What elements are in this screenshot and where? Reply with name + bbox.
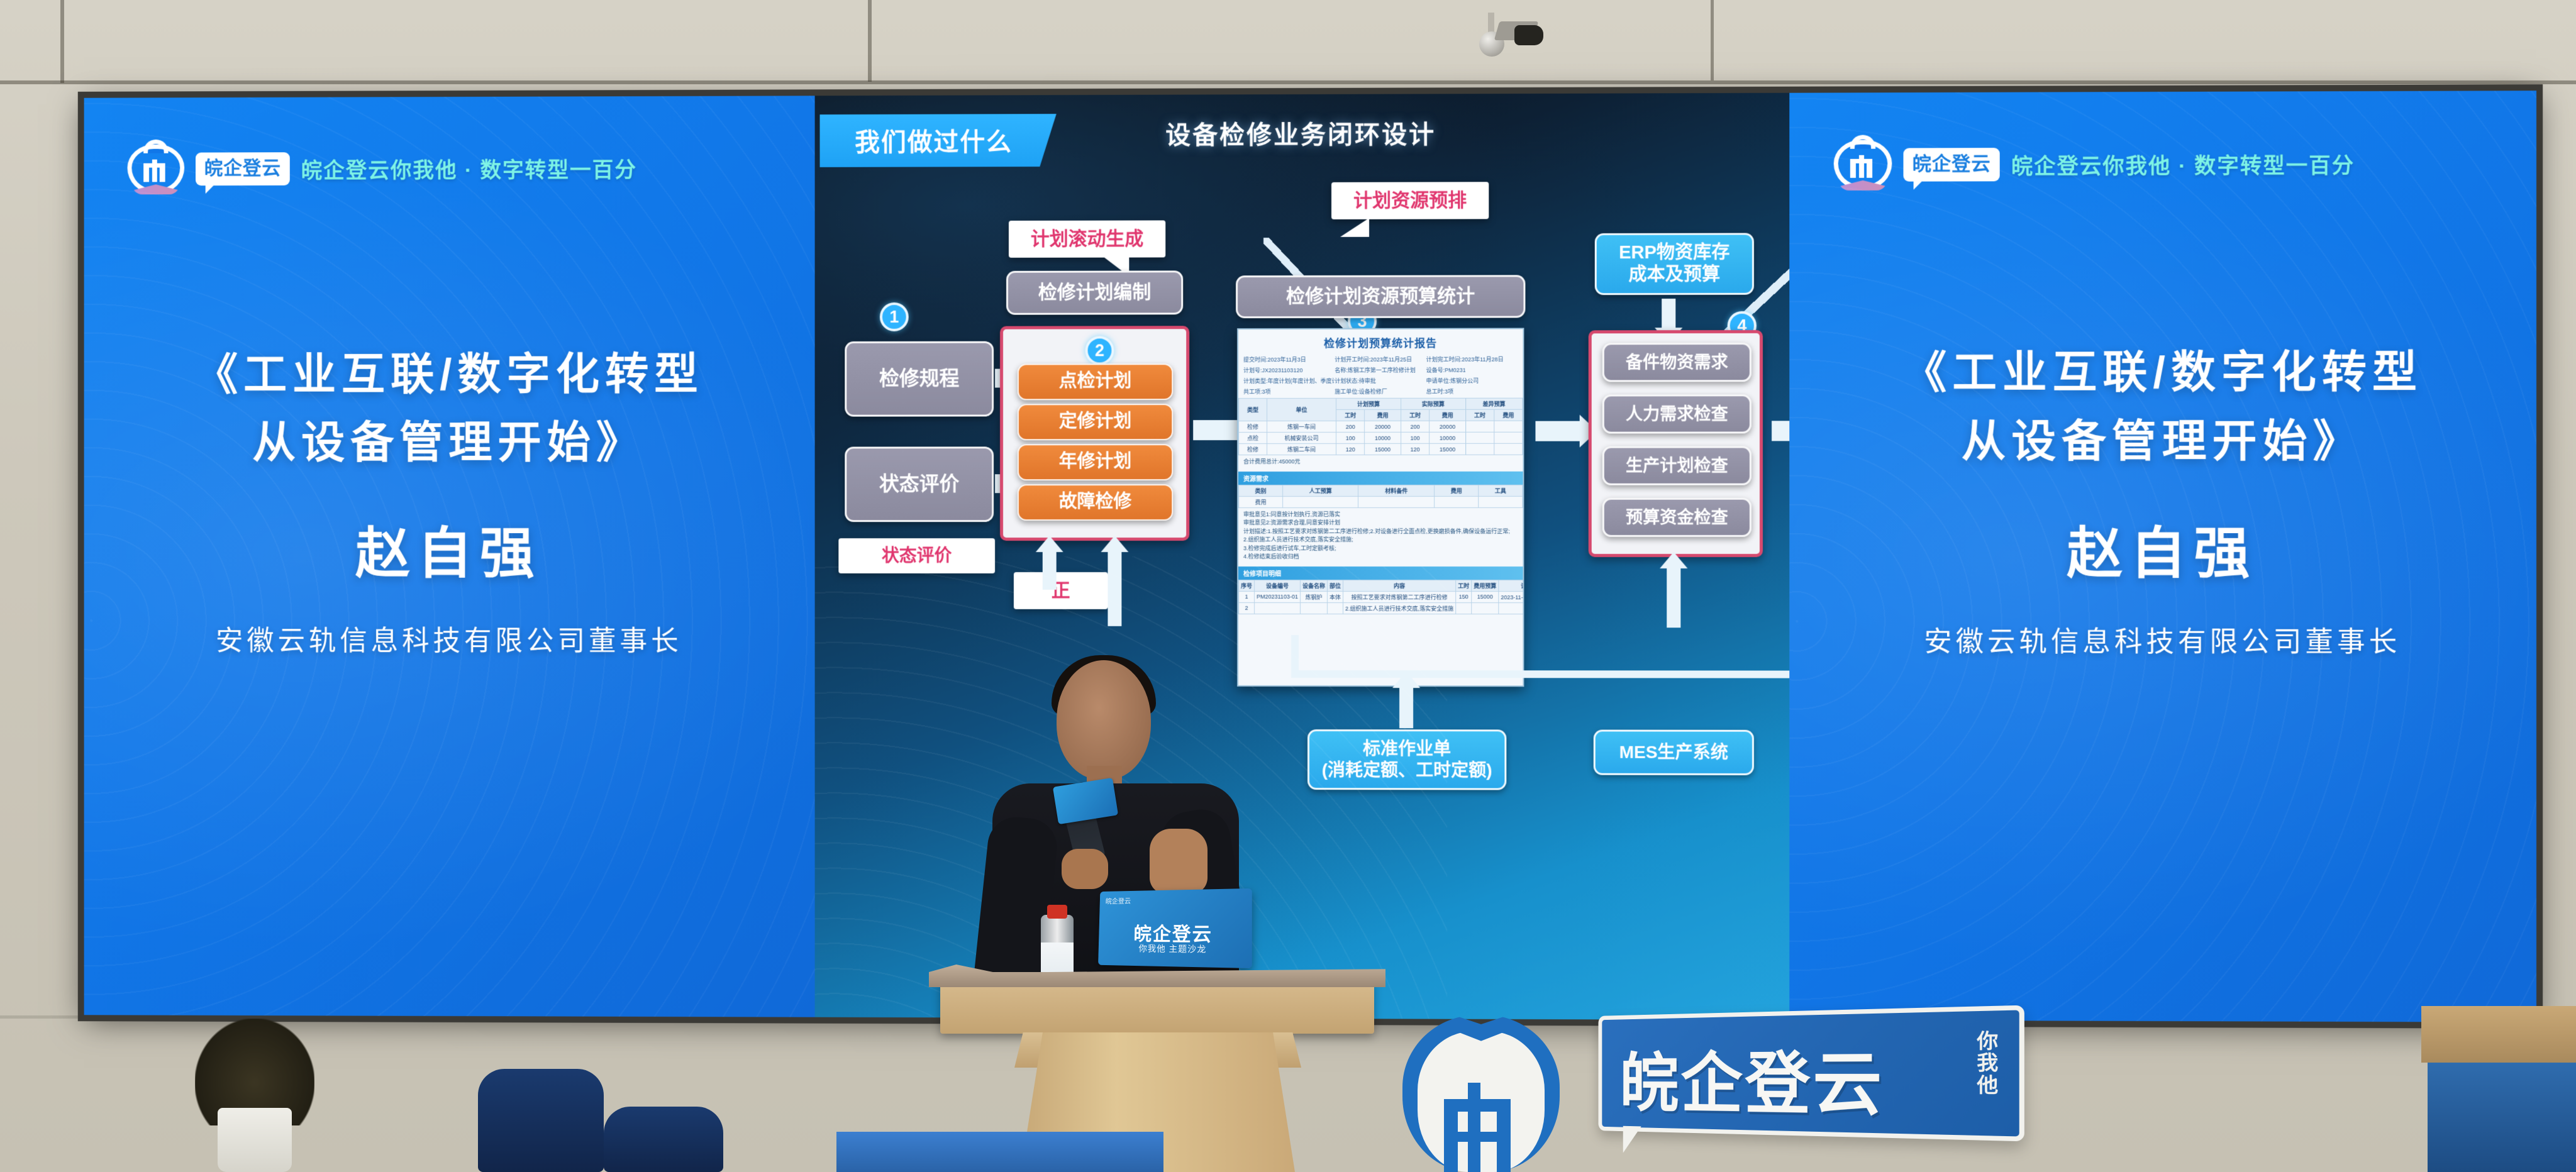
report-cell: 按照工艺要求对炼钢第二工序进行检修 [1343, 591, 1455, 602]
speaker-name: 赵自强 [84, 509, 815, 589]
brand-bubble-text: 皖企登云 [1913, 153, 1991, 174]
report-cell [1255, 602, 1301, 614]
report-note: 2.组织施工人员进行技术交底,落实安全措施; [1243, 536, 1518, 545]
report-th: 单位 [1267, 398, 1336, 421]
report-cell: 2 [1239, 602, 1255, 614]
report-th-group: 差异预算 [1465, 398, 1522, 409]
report-row: 点检机械安装公司1001000010010000 [1239, 432, 1523, 443]
cloud-house-logo-icon [1834, 140, 1892, 189]
report-cell: 150 [1456, 591, 1472, 602]
node-budget-stats: 检修计划资源预算统计 [1236, 275, 1525, 318]
report-meta-item: 设备号:PM0231 [1426, 365, 1517, 375]
report-row: 1PM20231103-01炼钢炉本体按照工艺要求对炼钢第二工序进行检修1501… [1239, 591, 1524, 602]
report-cell [1472, 602, 1499, 614]
report-cell [1499, 602, 1524, 614]
report-group-header-row: 类型单位计划预算实际预算差异预算 [1239, 398, 1523, 409]
report-cell [1465, 432, 1494, 443]
report-th: 工时 [1465, 409, 1494, 421]
report-cell: 2023-11-25至2023-11-28 [1499, 591, 1524, 602]
front-table-right-top [2421, 1006, 2576, 1063]
brand-bubble-left: 皖企登云 [196, 152, 290, 185]
report-meta-item: 施工单位:设备检修厂 [1335, 386, 1426, 397]
report-cell: 200 [1336, 421, 1365, 432]
report-title: 检修计划预算统计报告 [1238, 329, 1523, 353]
callout-plan-rolling: 计划滚动生成 [1009, 220, 1165, 257]
report-cell: 检修 [1239, 421, 1267, 433]
report-meta-item: 总工时:3项 [1426, 386, 1517, 397]
brand-lockup-right: 皖企登云 皖企登云你我他 · 数字转型一百分 [1834, 139, 2355, 189]
node-plan-item-1: 定修计划 [1018, 404, 1173, 440]
chair [478, 1069, 604, 1172]
step-number-2: 2 [1085, 336, 1114, 365]
arrow-erp-to-checks [1662, 299, 1675, 329]
wall-tile-line [1711, 0, 1714, 80]
report-meta-item: 提交时间:2023年11月3日 [1243, 354, 1335, 365]
line-feedback-bus [1291, 670, 1789, 678]
presentation-slide: 我们做过什么 设备检修业务闭环设计 1 检修规程 状态评价 状态评价 计划滚动生… [815, 93, 1790, 1020]
report-meta-item: 计划完工时间:2023年11月28日 [1426, 354, 1517, 365]
panel-title-line2: 从设备管理开始》 [1789, 407, 2536, 476]
report-meta-item: 计划号:JX20231103120 [1243, 365, 1335, 375]
node-plan-authoring: 检修计划编制 [1006, 270, 1183, 314]
panel-title-line2: 从设备管理开始》 [84, 408, 815, 477]
wall-tile-line [60, 0, 64, 83]
speaker-org: 安徽云轨信息科技有限公司董事长 [84, 618, 815, 658]
report-cell: 120 [1336, 443, 1365, 455]
report-cell [1435, 496, 1479, 507]
cloud-house-logo-icon [128, 145, 185, 194]
report-th-group: 计划预算 [1336, 398, 1401, 409]
report-cell: 2.组织施工人员进行技术交底,落实安全措施 [1343, 602, 1455, 614]
report-meta-item: 计划状态:待审批 [1335, 375, 1426, 386]
line-feedback-up [1291, 635, 1299, 673]
report-cell: 120 [1401, 443, 1429, 455]
panel-title-line1: 《工业互联/数字化转型 [1789, 338, 2536, 407]
report-meta-item: 计划类型:年度计划(年度计划、季度计划) [1243, 375, 1335, 386]
speaker-org: 安徽云轨信息科技有限公司董事长 [1789, 619, 2536, 660]
security-camera-icon [1465, 13, 1541, 63]
front-table-right [2428, 1063, 2576, 1172]
report-cell [1494, 432, 1523, 443]
report-cell [1456, 602, 1472, 614]
report-note: 审批意见1:同意按计划执行,资源已落实 [1243, 510, 1518, 519]
report-cell: 10000 [1365, 432, 1401, 443]
report-th: 费用 [1365, 409, 1401, 421]
report-meta-item: 计划开工时间:2023年11月25日 [1335, 354, 1426, 365]
report-th: 工时 [1336, 409, 1365, 421]
report-th-group: 实际预算 [1401, 398, 1465, 409]
report-th: 内容 [1343, 580, 1455, 591]
report-cell: 100 [1401, 432, 1429, 443]
report-cell: 炼钢二车间 [1267, 443, 1336, 455]
report-cell [1479, 496, 1523, 507]
chair [604, 1107, 723, 1172]
cloud-house-logo-icon [1402, 1015, 1560, 1172]
report-section2-row: 费用 [1239, 496, 1523, 507]
report-th: 工时 [1401, 409, 1429, 421]
node-mes-system: MES生产系统 [1594, 730, 1754, 775]
report-cell [1465, 421, 1494, 432]
report-cell: 炼钢一车间 [1267, 421, 1336, 432]
report-cell: 费用 [1239, 496, 1283, 507]
stage-sign-plate: 皖企登云 你我他 [1599, 1005, 2024, 1142]
report-th: 计划时间 [1499, 580, 1524, 591]
report-section3-body: 1PM20231103-01炼钢炉本体按照工艺要求对炼钢第二工序进行检修1501… [1239, 591, 1524, 614]
report-cell: 20000 [1430, 421, 1466, 432]
placard-sub-text: 你我他 主题沙龙 [1099, 942, 1252, 956]
step-number-1: 1 [880, 302, 909, 331]
callout-condition-eval-note: 状态评价 [838, 538, 995, 573]
arrow-checks-to-risk [1772, 421, 1789, 441]
stage-logo-sign: 皖企登云 你我他 [1402, 1011, 2057, 1172]
brand-bubble-right: 皖企登云 [1903, 148, 1999, 182]
report-cell: 本体 [1327, 591, 1343, 602]
report-cell: 20000 [1365, 421, 1401, 432]
report-th: 工具 [1479, 485, 1523, 496]
report-meta-item: 共工项:3项 [1243, 386, 1335, 397]
report-th: 序号 [1239, 580, 1255, 591]
arrow-mes-to-checks [1667, 567, 1680, 627]
node-check-item-0: 备件物资需求 [1602, 343, 1752, 382]
report-note: 审批意见2:资源需求合理,同意安排计划 [1243, 519, 1518, 528]
wall-tile-line [868, 0, 872, 82]
report-th: 费用 [1435, 485, 1479, 496]
report-cell: 15000 [1472, 591, 1499, 602]
report-cell: 检修 [1239, 444, 1267, 455]
report-cell [1327, 602, 1343, 614]
report-th: 类别 [1239, 485, 1283, 496]
wall-tile-line [0, 80, 2576, 84]
node-condition-eval: 状态评价 [845, 446, 994, 522]
brand-slogan-right: 皖企登云你我他 · 数字转型一百分 [2011, 148, 2355, 180]
report-section2-notes: 审批意见1:同意按计划执行,资源已落实审批意见2:资源需求合理,同意安排计划计划… [1238, 507, 1523, 563]
stage-sign-side-text: 你我他 [1970, 1031, 2004, 1098]
node-standard-work-order: 标准作业单 (消耗定额、工时定额) [1307, 729, 1506, 790]
report-section3-header-row: 序号设备编号设备名称部位内容工时费用预算计划时间施工单位备注 [1239, 580, 1524, 591]
brand-slogan-left: 皖企登云你我他 · 数字转型一百分 [301, 152, 637, 184]
slide-title: 设备检修业务闭环设计 [815, 113, 1790, 152]
arrow-plan-to-report [1193, 420, 1242, 440]
led-video-wall: 皖企登云 皖企登云你我他 · 数字转型一百分 《工业互联/数字化转型 从设备管理… [84, 91, 2536, 1022]
right-display-panel: 皖企登云 皖企登云你我他 · 数字转型一百分 《工业互联/数字化转型 从设备管理… [1789, 91, 2536, 1022]
node-check-item-3: 预算资金检查 [1602, 498, 1752, 537]
report-row: 检修炼钢一车间2002000020020000 [1239, 421, 1523, 432]
report-screenshot: 检修计划预算统计报告 提交时间:2023年11月3日计划开工时间:2023年11… [1237, 328, 1524, 687]
report-meta-item: 申请单位:炼钢分公司 [1426, 375, 1517, 386]
arrow-report-to-checks [1535, 421, 1580, 441]
front-table-left [836, 1132, 1163, 1172]
report-row: 检修炼钢二车间1201500012015000 [1239, 443, 1523, 455]
report-note: 3.检修完成后进行试车,工时定额考核; [1243, 544, 1518, 553]
report-cell [1300, 602, 1327, 614]
arrow-sow-up [1399, 687, 1413, 728]
report-footer-note: 合计费用总计:45000元 [1238, 455, 1523, 469]
report-table-section2: 类别人工预算材料备件费用工具 费用 [1238, 484, 1523, 507]
report-cell: 1 [1239, 591, 1255, 602]
report-th: 材料备件 [1358, 485, 1435, 496]
report-cell: 200 [1401, 421, 1429, 432]
report-cell [1283, 496, 1358, 507]
left-display-panel: 皖企登云 皖企登云你我他 · 数字转型一百分 《工业互联/数字化转型 从设备管理… [84, 96, 815, 1017]
node-inspection-rules: 检修规程 [845, 341, 994, 417]
node-plan-item-3: 故障检修 [1018, 484, 1173, 521]
report-th: 费用 [1494, 409, 1523, 421]
report-section3-title: 检修项目明细 [1238, 566, 1523, 579]
report-th: 费用预算 [1472, 580, 1499, 591]
report-section2-header-row: 类别人工预算材料备件费用工具 [1239, 485, 1523, 496]
brand-bubble-text: 皖企登云 [204, 158, 281, 179]
brand-lockup-left: 皖企登云 皖企登云你我他 · 数字转型一百分 [128, 143, 637, 194]
node-check-item-1: 人力需求检查 [1602, 394, 1752, 433]
left-panel-content: 《工业互联/数字化转型 从设备管理开始》 赵自强 安徽云轨信息科技有限公司董事长 [84, 340, 815, 658]
report-cell: 机械安装公司 [1267, 432, 1336, 443]
report-section2-title: 资源需求 [1238, 471, 1523, 484]
report-cell: 15000 [1430, 443, 1466, 455]
report-th: 人工预算 [1283, 485, 1358, 496]
report-table-body: 检修炼钢一车间2002000020020000点检机械安装公司100100001… [1239, 421, 1523, 455]
speaker-name: 赵自强 [1789, 508, 2536, 589]
report-th: 费用 [1430, 409, 1466, 421]
report-th: 设备名称 [1300, 580, 1327, 591]
node-plan-item-2: 年修计划 [1018, 444, 1173, 480]
node-plan-item-0: 点检计划 [1018, 363, 1173, 400]
report-cell [1358, 496, 1435, 507]
report-table-section3: 序号设备编号设备名称部位内容工时费用预算计划时间施工单位备注 1PM202311… [1238, 579, 1524, 614]
report-cell: PM20231103-01 [1255, 591, 1301, 602]
report-row: 22.组织施工人员进行技术交底,落实安全措施 [1239, 602, 1524, 614]
report-cell: 点检 [1239, 433, 1267, 444]
report-cell [1494, 443, 1523, 455]
report-cell [1494, 421, 1523, 432]
report-th: 类型 [1239, 399, 1267, 421]
report-table-main: 类型单位计划预算实际预算差异预算 工时费用工时费用工时费用 检修炼钢一车间200… [1238, 398, 1523, 455]
callout-plan-correct-note: 正 [1014, 572, 1108, 609]
placard-logo-text: 皖企登云 [1106, 896, 1131, 906]
callout-resource-presched: 计划资源预排 [1331, 182, 1489, 219]
report-cell: 15000 [1365, 443, 1401, 455]
node-check-item-2: 生产计划检查 [1602, 446, 1752, 485]
stage-sign-main-text: 皖企登云 [1620, 1027, 1885, 1129]
report-note: 4.检修结束后验收归档 [1243, 553, 1518, 561]
potted-plant [195, 1019, 314, 1172]
arrow-feedback-plan-a [1043, 551, 1057, 590]
report-th: 部位 [1327, 580, 1343, 591]
report-th: 工时 [1456, 580, 1472, 591]
panel-title-line1: 《工业互联/数字化转型 [84, 340, 815, 409]
report-cell [1465, 443, 1494, 455]
report-cell: 炼钢炉 [1300, 591, 1327, 602]
report-meta: 提交时间:2023年11月3日计划开工时间:2023年11月25日计划完工时间:… [1238, 353, 1523, 399]
podium-placard: 皖企登云 皖企登云 你我他 主题沙龙 [1098, 888, 1252, 968]
report-cell: 100 [1336, 432, 1365, 443]
report-note: 计划描述:1.按照工艺要求对炼钢第二工序进行检修;2.对设备进行全面点检,更换磨… [1243, 527, 1518, 536]
report-meta-item: 名称:炼钢工序第一工序检修计划 [1335, 365, 1426, 375]
right-panel-content: 《工业互联/数字化转型 从设备管理开始》 赵自强 安徽云轨信息科技有限公司董事长 [1789, 338, 2536, 660]
arrow-feedback-plan-b [1108, 551, 1121, 626]
report-cell: 10000 [1430, 432, 1466, 443]
report-th: 设备编号 [1255, 580, 1301, 591]
